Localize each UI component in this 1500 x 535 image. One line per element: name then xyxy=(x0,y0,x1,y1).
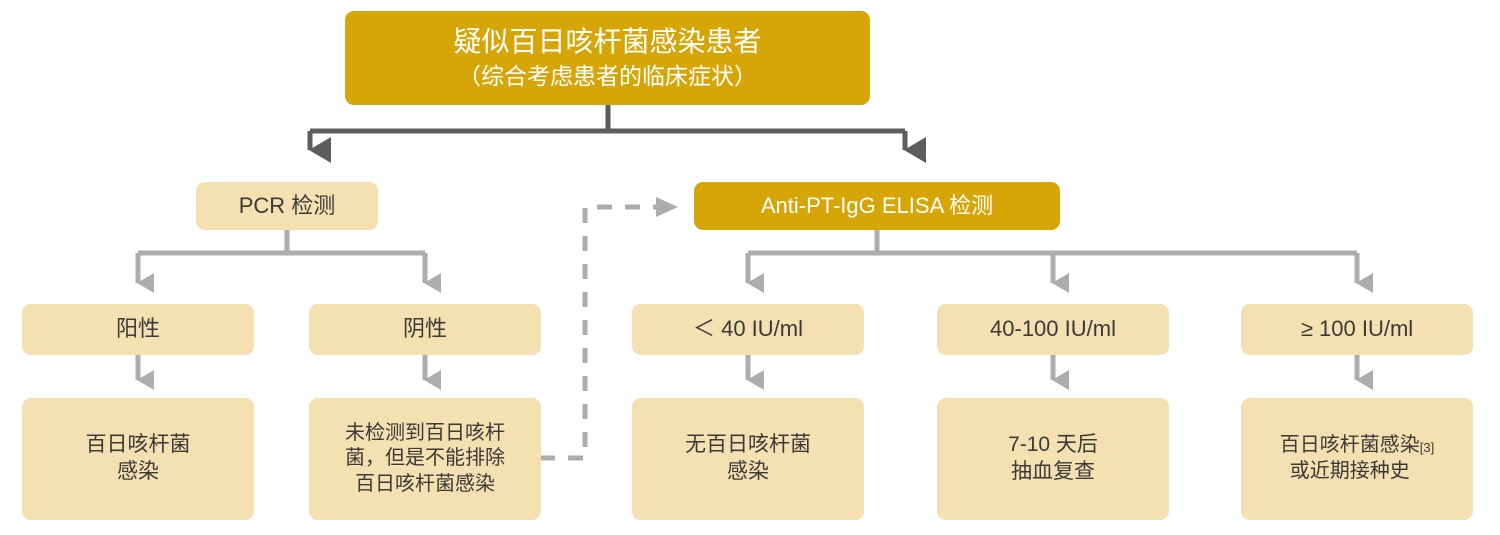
node-pcr-positive[interactable]: 阳性 xyxy=(22,304,254,355)
edge-elisa-split xyxy=(748,230,1357,283)
edge-elisa-outcome-results xyxy=(748,355,1357,380)
node-result-infection-or-recent-vaccination[interactable]: 百日咳杆菌感染 或近期接种史[3] xyxy=(1241,398,1473,520)
node-suspected-case-sub: （综合考虑患者的临床症状） xyxy=(453,61,761,92)
node-result-not-detected-cannot-exclude[interactable]: 未检测到百日咳杆 菌，但是不能排除 百日咳杆菌感染 xyxy=(309,398,541,520)
node-result-retest-in-7-10-days[interactable]: 7-10 天后 抽血复查 xyxy=(937,398,1169,520)
flowchart-canvas: 疑似百日咳杆菌感染患者 （综合考虑患者的临床症状） PCR 检测 Anti-PT… xyxy=(0,0,1500,535)
node-result-no-pertussis-infection[interactable]: 无百日咳杆菌 感染 xyxy=(632,398,864,520)
citation-reference-3: [3] xyxy=(1420,441,1434,454)
edge-pcr-outcome-results xyxy=(138,355,425,380)
node-suspected-case[interactable]: 疑似百日咳杆菌感染患者 （综合考虑患者的临床症状） xyxy=(345,11,870,105)
edge-pcr-split xyxy=(138,230,425,283)
node-pcr-negative[interactable]: 阴性 xyxy=(309,304,541,355)
node-elisa-100-or-more[interactable]: ≥ 100 IU/ml xyxy=(1241,304,1473,355)
node-result-pertussis-infection[interactable]: 百日咳杆菌 感染 xyxy=(22,398,254,520)
node-elisa-40-to-100[interactable]: 40-100 IU/ml xyxy=(937,304,1169,355)
node-elisa-test[interactable]: Anti-PT-IgG ELISA 检测 xyxy=(694,182,1060,230)
node-result-infection-or-recent-vaccination-text: 百日咳杆菌感染 或近期接种史 xyxy=(1280,433,1420,484)
node-elisa-below-40[interactable]: ＜ 40 IU/ml xyxy=(632,304,864,355)
node-pcr-test[interactable]: PCR 检测 xyxy=(196,182,378,230)
node-suspected-case-main: 疑似百日咳杆菌感染患者 xyxy=(453,26,761,57)
node-suspected-case-text: 疑似百日咳杆菌感染患者 （综合考虑患者的临床症状） xyxy=(453,0,761,128)
